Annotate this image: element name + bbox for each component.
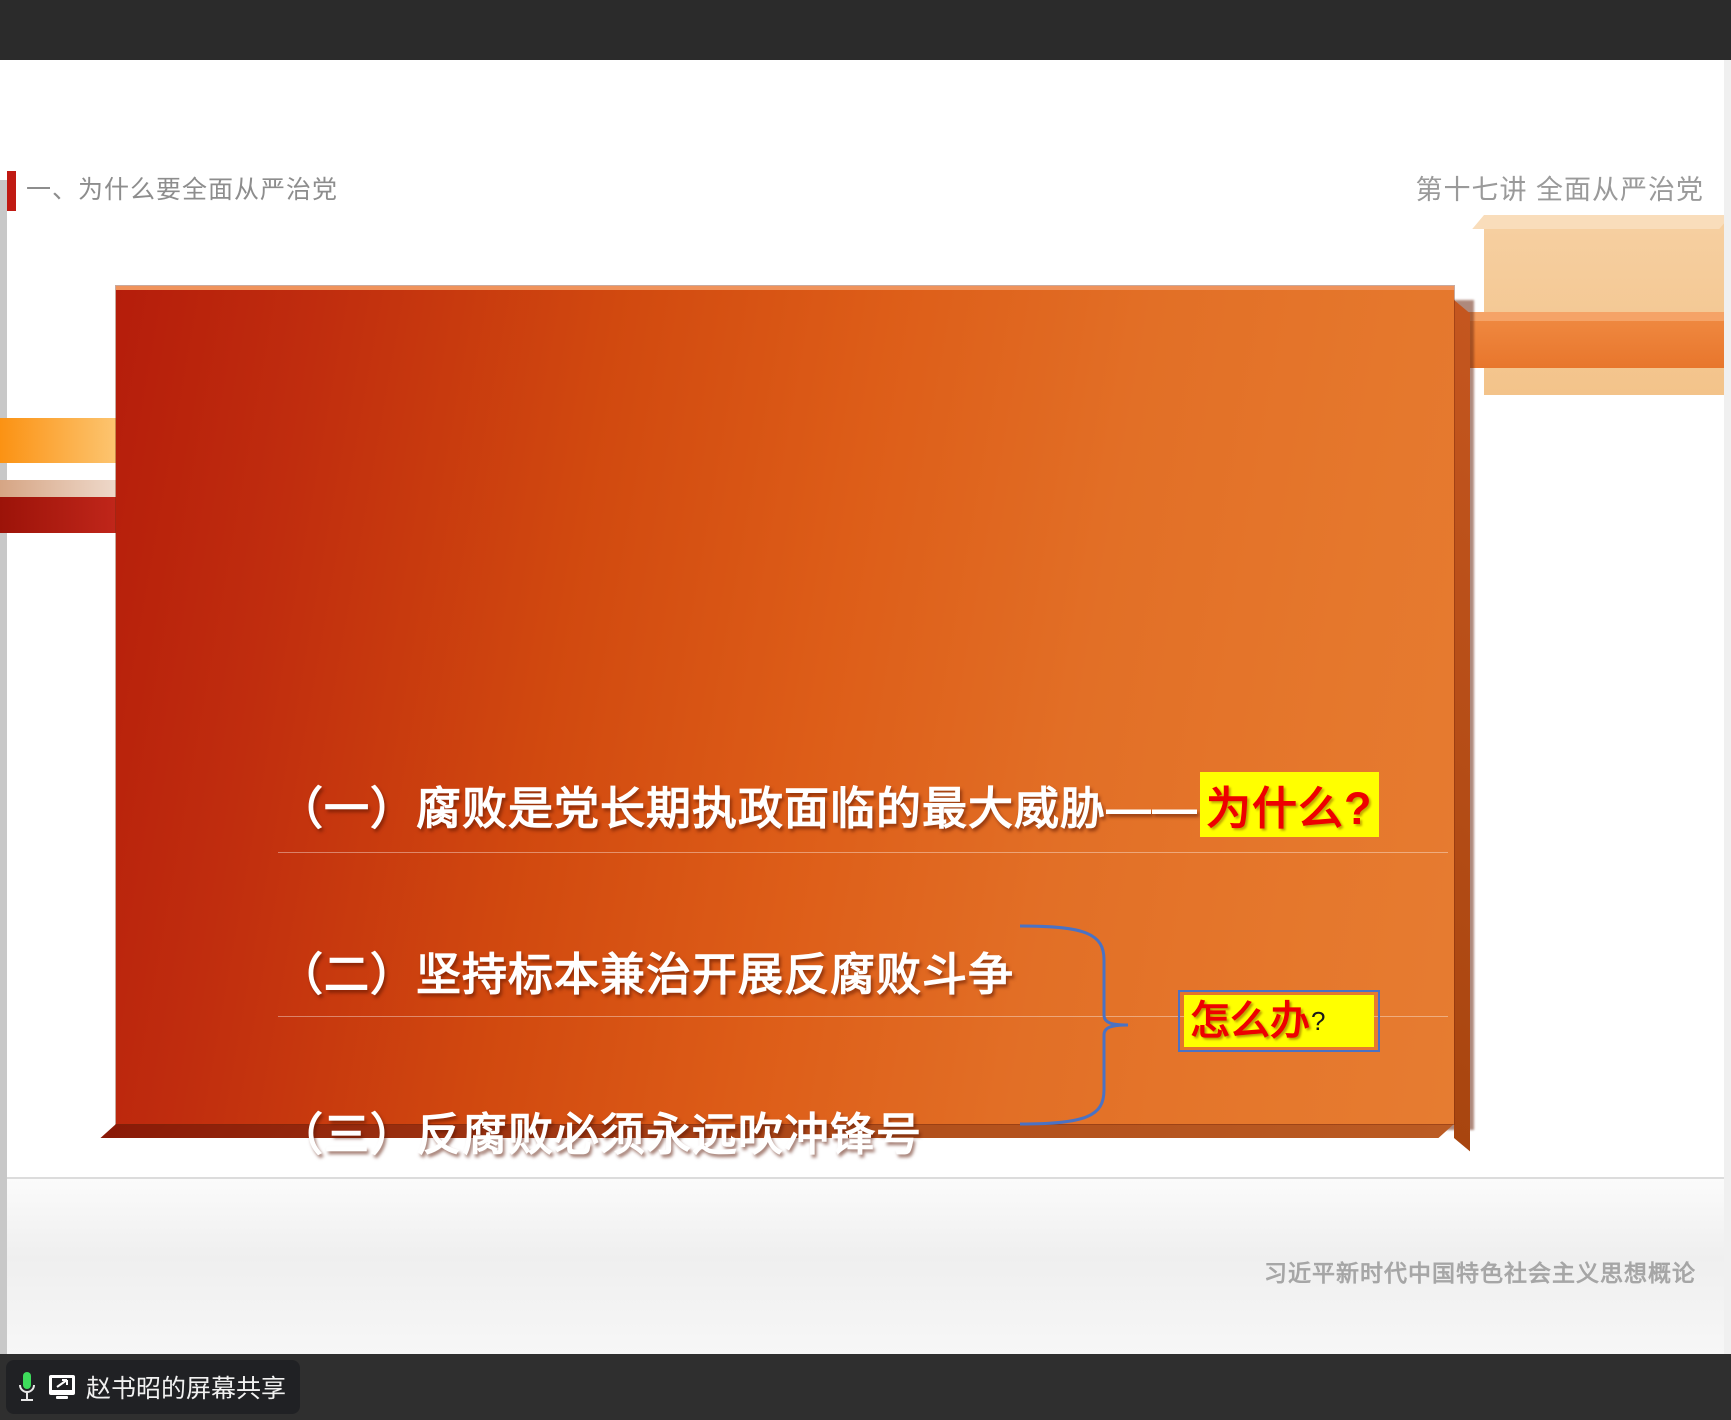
section-title: 一、为什么要全面从严治党 [26, 170, 338, 206]
callout-box: 怎么办 ? [1178, 990, 1380, 1052]
screen-share-indicator[interactable]: 赵书昭的屏幕共享 [6, 1360, 300, 1414]
callout-text: 怎么办 [1190, 1001, 1310, 1041]
header-accent-bar [7, 171, 16, 211]
slide-viewport: 一、为什么要全面从严治党 第十七讲 全面从严治党 （一）腐败是党长期执政面临的最… [0, 60, 1724, 1354]
decoration-left-red [0, 497, 116, 533]
brace-icon [1016, 920, 1196, 1130]
outline-divider-1 [278, 852, 1448, 853]
outline-item-1-highlight: 为什么? [1200, 772, 1379, 837]
outline-item-3: （三）反腐败必须永远吹冲锋号 [278, 1098, 1458, 1163]
decoration-top-right-tan-bevel [1472, 215, 1724, 229]
screen-share-window: 一、为什么要全面从严治党 第十七讲 全面从严治党 （一）腐败是党长期执政面临的最… [0, 0, 1731, 1420]
microphone-icon[interactable] [16, 1370, 38, 1404]
callout-question-mark: ? [1311, 1008, 1325, 1034]
slide-header: 一、为什么要全面从严治党 第十七讲 全面从严治党 [0, 60, 1724, 180]
outline-item-3-label: （三）反腐败必须永远吹冲锋号 [278, 1109, 922, 1160]
footer-course-title: 习近平新时代中国特色社会主义思想概论 [1264, 1254, 1696, 1288]
panel-right-face [1454, 300, 1470, 1151]
taskbar: 赵书昭的屏幕共享 [0, 1354, 1731, 1420]
outline-item-1: （一）腐败是党长期执政面临的最大威胁——为什么? [278, 772, 1458, 837]
right-gutter [1724, 60, 1731, 1354]
decoration-top-right-tan [1484, 215, 1724, 395]
screen-share-icon[interactable] [48, 1374, 76, 1400]
content-panel: （一）腐败是党长期执政面临的最大威胁——为什么? （二）坚持标本兼治开展反腐败斗… [116, 286, 1454, 1124]
screen-share-label: 赵书昭的屏幕共享 [86, 1369, 286, 1405]
callout-highlight: 怎么办 ? [1184, 995, 1374, 1047]
outline-item-1-label: （一）腐败是党长期执政面临的最大威胁—— [278, 783, 1198, 834]
footer-divider [7, 1177, 1724, 1179]
lecture-title: 第十七讲 全面从严治党 [1415, 168, 1704, 207]
outline-item-2-label: （二）坚持标本兼治开展反腐败斗争 [278, 949, 1014, 1000]
window-top-bar [0, 0, 1731, 60]
decoration-left-orange [0, 418, 126, 463]
